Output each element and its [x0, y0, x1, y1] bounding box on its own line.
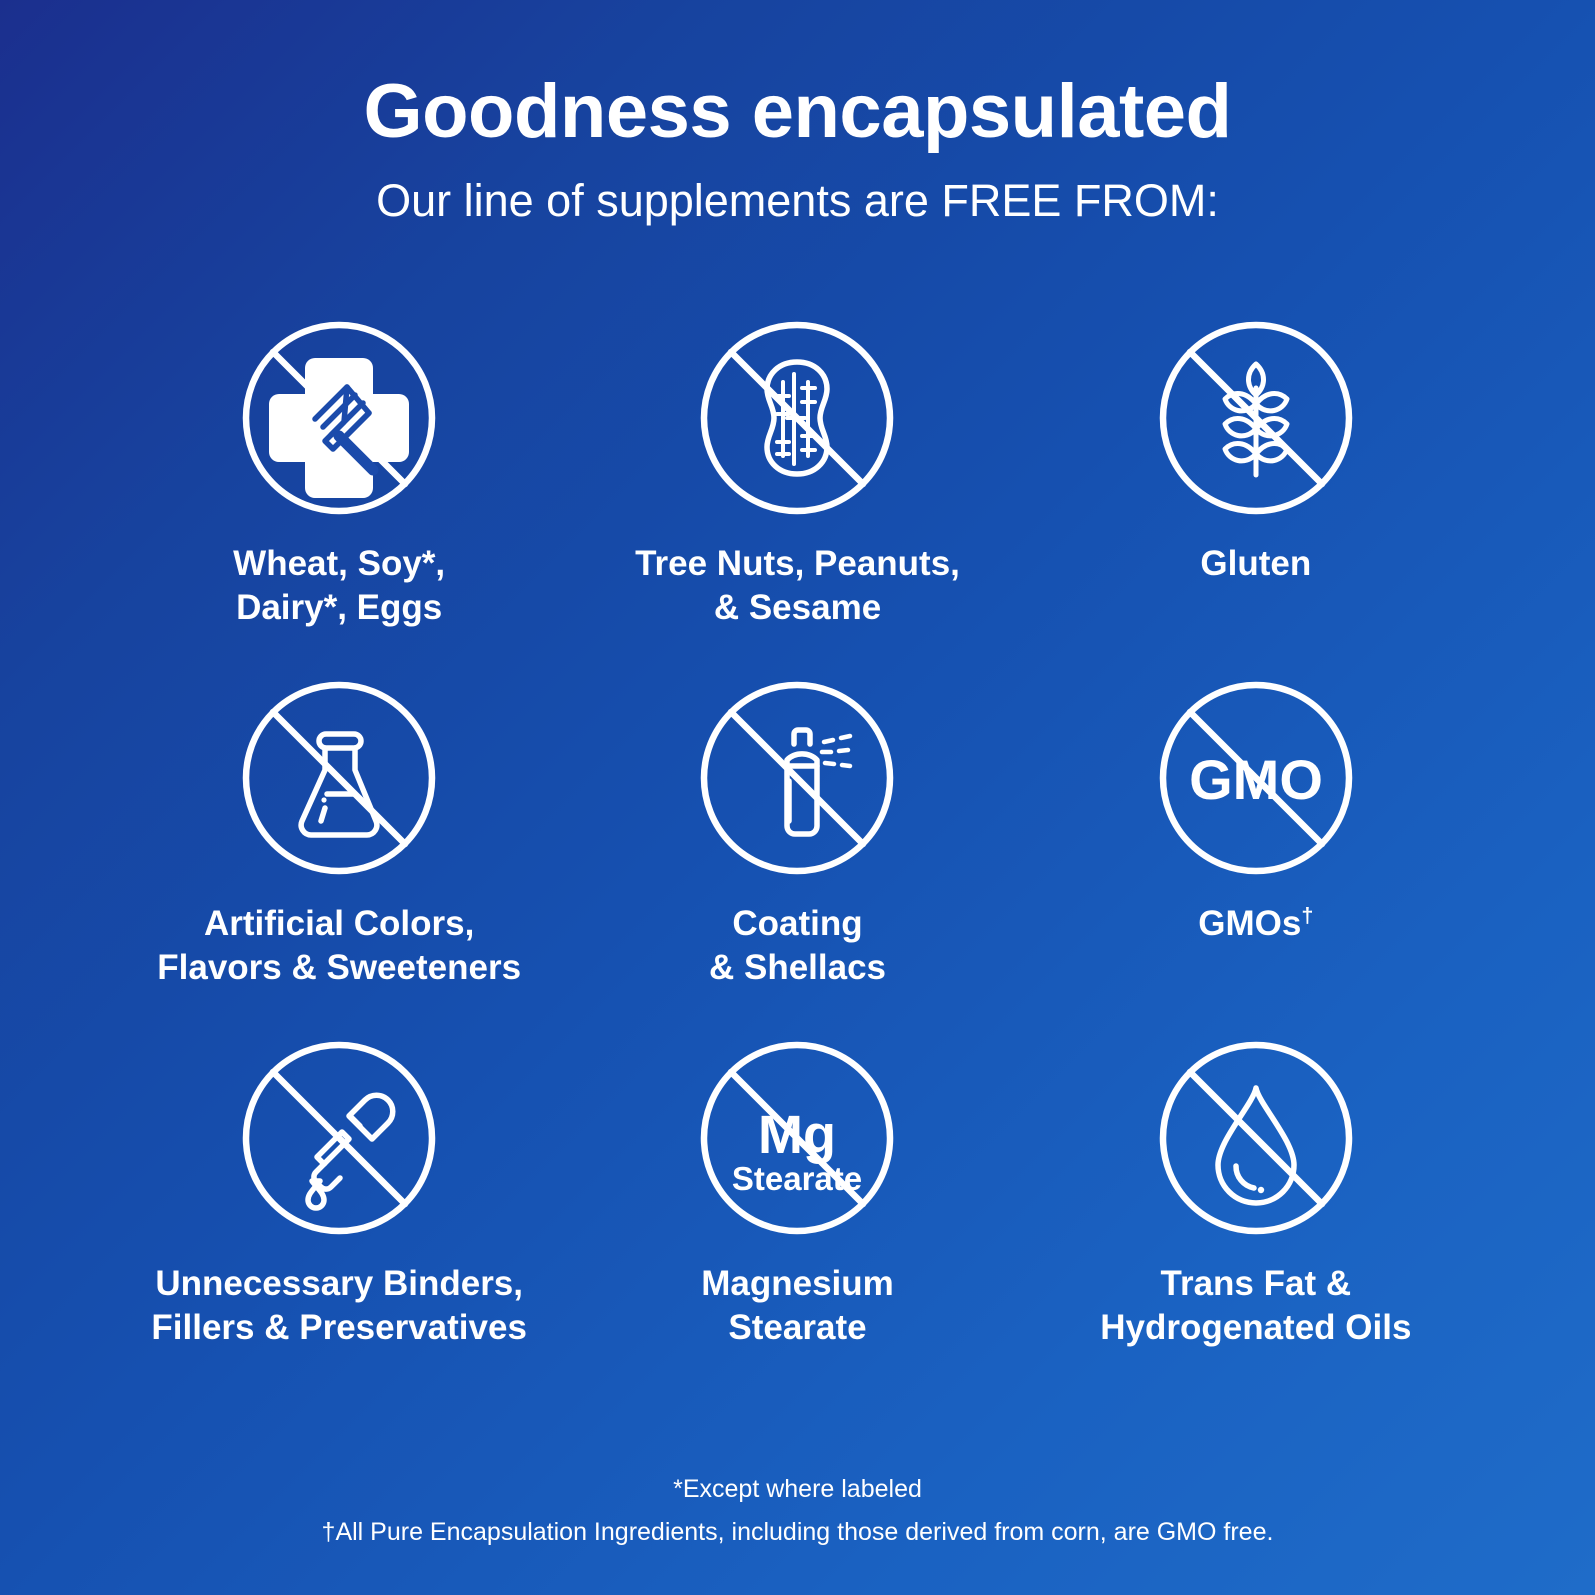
footnote-asterisk: *Except where labeled: [0, 1468, 1595, 1511]
gmo-icon-text: GMO: [1189, 748, 1323, 811]
poster-header: Goodness encapsulated Our line of supple…: [0, 72, 1595, 225]
footnote-dagger-marker: †: [1301, 902, 1313, 927]
mg-icon-text: Mg: [759, 1105, 837, 1165]
free-from-item-label: GMOs†: [1198, 902, 1313, 946]
free-from-item-allergens: Wheat, Soy*, Dairy*, Eggs: [110, 318, 568, 678]
free-from-item-label: Tree Nuts, Peanuts, & Sesame: [635, 542, 960, 630]
free-from-item-label: Gluten: [1200, 542, 1311, 586]
free-from-item-label: Magnesium Stearate: [701, 1262, 894, 1350]
no-magnesium-stearate-text-icon: Mg Stearate: [697, 1038, 897, 1238]
free-from-item-label-text: GMOs: [1198, 904, 1301, 943]
free-from-item-magnesium-stearate: Mg Stearate Magnesium Stearate: [568, 1038, 1026, 1398]
no-spray-can-icon: [697, 678, 897, 878]
no-peanut-icon: [697, 318, 897, 518]
no-gmo-text-icon: GMO: [1156, 678, 1356, 878]
free-from-item-label: Coating & Shellacs: [709, 902, 886, 990]
no-oil-droplet-icon: [1156, 1038, 1356, 1238]
free-from-item-nuts: Tree Nuts, Peanuts, & Sesame: [568, 318, 1026, 678]
free-from-item-binders: Unnecessary Binders, Fillers & Preservat…: [110, 1038, 568, 1398]
page-title: Goodness encapsulated: [0, 72, 1595, 152]
stearate-icon-text: Stearate: [732, 1160, 862, 1197]
page-subtitle: Our line of supplements are FREE FROM:: [0, 176, 1595, 226]
free-from-item-label: Unnecessary Binders, Fillers & Preservat…: [151, 1262, 527, 1350]
free-from-item-coating: Coating & Shellacs: [568, 678, 1026, 1038]
free-from-item-label: Artificial Colors, Flavors & Sweeteners: [157, 902, 521, 990]
free-from-poster: Goodness encapsulated Our line of supple…: [0, 0, 1595, 1595]
free-from-item-gmo: GMO GMOs†: [1027, 678, 1485, 1038]
free-from-item-label: Wheat, Soy*, Dairy*, Eggs: [233, 542, 445, 630]
free-from-item-trans-fat: Trans Fat & Hydrogenated Oils: [1027, 1038, 1485, 1398]
no-dropper-pipette-icon: [239, 1038, 439, 1238]
no-flask-icon: [239, 678, 439, 878]
no-allergens-medical-cross-fork-icon: [239, 318, 439, 518]
free-from-grid: Wheat, Soy*, Dairy*, Eggs: [110, 318, 1485, 1398]
free-from-item-gluten: Gluten: [1027, 318, 1485, 678]
no-wheat-stalk-icon: [1156, 318, 1356, 518]
free-from-item-label: Trans Fat & Hydrogenated Oils: [1100, 1262, 1411, 1350]
free-from-item-artificial-colors: Artificial Colors, Flavors & Sweeteners: [110, 678, 568, 1038]
footnote-dagger: †All Pure Encapsulation Ingredients, inc…: [0, 1511, 1595, 1554]
footnotes: *Except where labeled †All Pure Encapsul…: [0, 1468, 1595, 1553]
